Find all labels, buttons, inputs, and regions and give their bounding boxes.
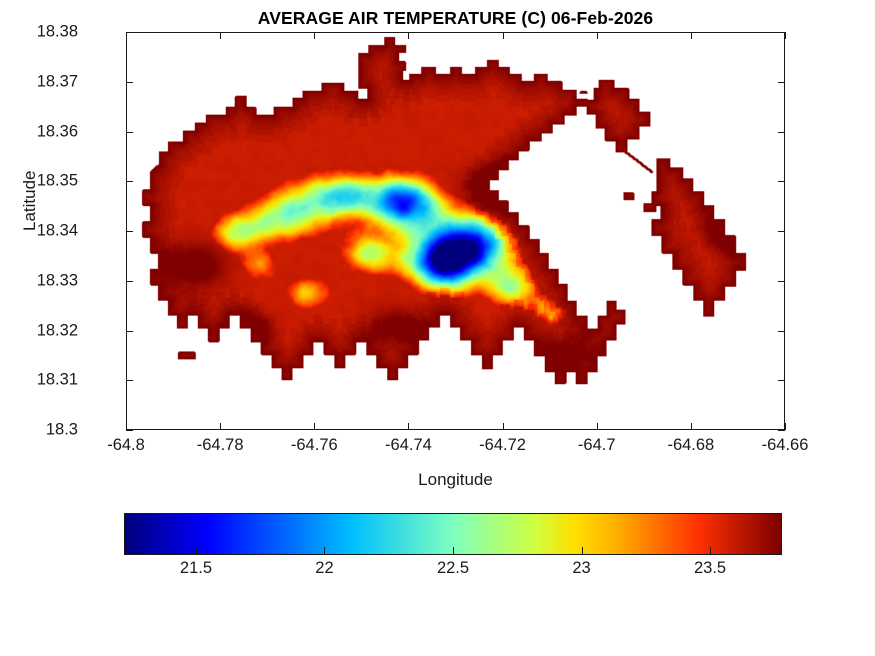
y-axis-tick [778,380,785,381]
x-axis-tick [597,423,598,430]
map-axes[interactable] [126,32,785,430]
colorbar-tick-label: 22 [315,559,333,578]
y-axis-label: Latitude [20,171,40,232]
x-axis-tick-label: -64.78 [197,436,244,455]
x-axis-tick [314,423,315,430]
x-axis-tick-label: -64.74 [385,436,432,455]
x-axis-tick [597,32,598,39]
y-axis-tick [126,231,133,232]
x-axis-tick-label: -64.76 [291,436,338,455]
x-axis-tick [503,423,504,430]
y-axis-tick-label: 18.36 [37,122,78,141]
x-axis-tick [408,32,409,39]
y-axis-tick [126,380,133,381]
y-axis-tick-label: 18.31 [37,371,78,390]
colorbar-tick-label: 23 [572,559,590,578]
colorbar-tick-label: 22.5 [437,559,469,578]
page-title: AVERAGE AIR TEMPERATURE (C) 06-Feb-2026 [126,8,785,29]
x-axis-tick [691,423,692,430]
y-axis-tick-label: 18.35 [37,172,78,191]
colorbar-tick [196,547,197,555]
y-axis-tick [126,82,133,83]
y-axis-tick-label: 18.38 [37,23,78,42]
x-axis-tick [408,423,409,430]
y-axis-tick [126,132,133,133]
y-axis-tick [778,82,785,83]
x-axis-tick-label: -64.8 [107,436,145,455]
x-axis-tick [314,32,315,39]
x-axis-tick-label: -64.72 [479,436,526,455]
x-axis-label: Longitude [126,470,785,490]
x-axis-tick-label: -64.66 [762,436,809,455]
colorbar-tick [710,547,711,555]
y-axis-tick-label: 18.3 [46,421,78,440]
x-axis-tick-label: -64.68 [667,436,714,455]
y-axis-tick-label: 18.32 [37,321,78,340]
x-axis-tick [126,423,127,430]
colorbar-tick [453,547,454,555]
figure-canvas: AVERAGE AIR TEMPERATURE (C) 06-Feb-2026 … [0,0,875,656]
y-axis-tick [126,181,133,182]
x-axis-tick [220,32,221,39]
y-axis-tick [778,231,785,232]
x-axis-tick [691,32,692,39]
colorbar-tick-label: 21.5 [180,559,212,578]
colorbar-tick [324,547,325,555]
y-axis-tick [126,281,133,282]
x-axis-tick [785,423,786,430]
x-axis-tick [126,32,127,39]
temperature-heatmap[interactable] [127,33,784,429]
y-axis-tick [778,132,785,133]
y-axis-tick-label: 18.33 [37,271,78,290]
y-axis-tick-label: 18.37 [37,72,78,91]
y-axis-tick [126,430,133,431]
colorbar-tick [582,547,583,555]
y-axis-tick [778,281,785,282]
x-axis-tick [220,423,221,430]
y-axis-tick [126,331,133,332]
x-axis-tick-label: -64.7 [578,436,616,455]
x-axis-tick [503,32,504,39]
y-axis-tick [778,331,785,332]
y-axis-tick [126,32,133,33]
y-axis-tick [778,181,785,182]
y-axis-tick-label: 18.34 [37,222,78,241]
y-axis-tick [778,430,785,431]
colorbar-tick-label: 23.5 [694,559,726,578]
x-axis-tick [785,32,786,39]
y-axis-tick [778,32,785,33]
